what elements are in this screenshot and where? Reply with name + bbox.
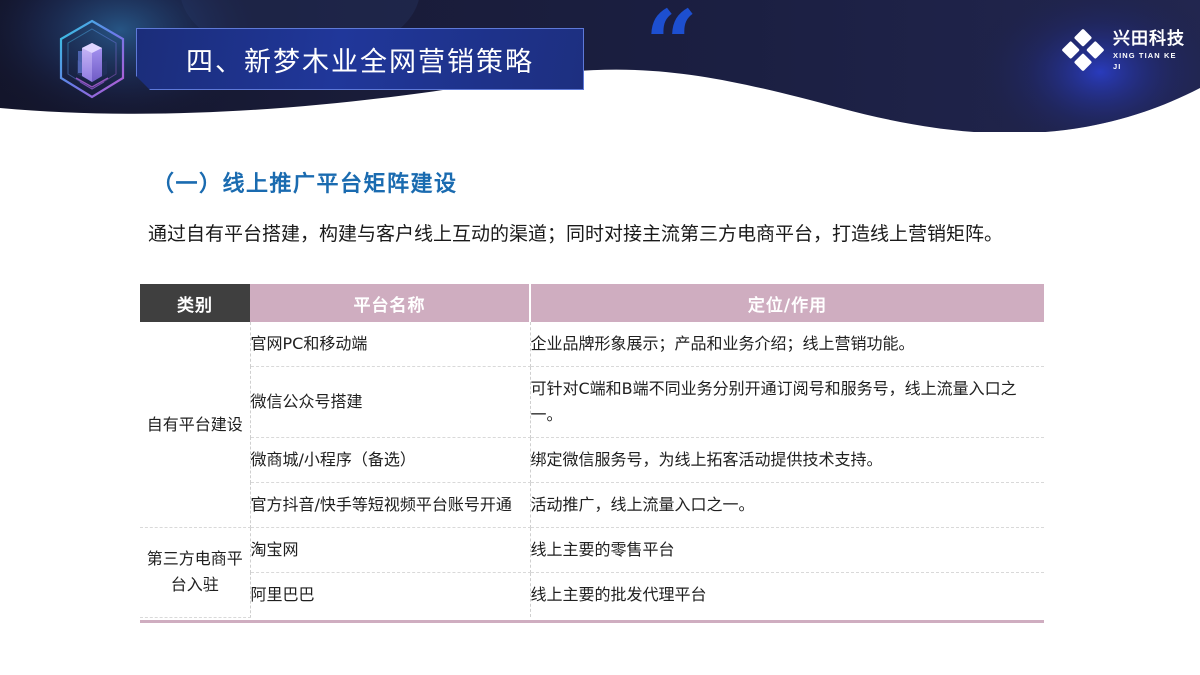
hexagon-cube-icon (52, 16, 132, 102)
quote-decoration-icon: “ (645, 18, 698, 70)
table-bottom-rule (140, 620, 1044, 623)
platform-cell: 淘宝网 (250, 528, 530, 573)
platform-cell: 官网PC和移动端 (250, 322, 530, 367)
platform-cell: 微商城/小程序（备选） (250, 438, 530, 483)
table-row: 微信公众号搭建 可针对C端和B端不同业务分别开通订阅号和服务号，线上流量入口之一… (140, 367, 1044, 438)
brand-logo: 兴田科技 XING TIAN KE JI (1062, 26, 1188, 74)
presentation-slide: 四、新梦木业全网营销策略 “ 兴田科技 XING TIAN KE JI (0, 0, 1200, 675)
page-title: 四、新梦木业全网营销策略 (186, 40, 534, 79)
slide-title-plate: 四、新梦木业全网营销策略 (136, 28, 584, 90)
role-cell: 可针对C端和B端不同业务分别开通订阅号和服务号，线上流量入口之一。 (530, 367, 1044, 438)
platform-matrix-table: 类别 平台名称 定位/作用 自有平台建设 官网PC和移动端 企业品牌形象展示；产… (140, 284, 1044, 618)
role-cell: 绑定微信服务号，为线上拓客活动提供技术支持。 (530, 438, 1044, 483)
role-cell: 线上主要的批发代理平台 (530, 573, 1044, 618)
four-diamond-logo-icon (1062, 29, 1104, 71)
column-header-role: 定位/作用 (530, 284, 1044, 322)
platform-cell: 微信公众号搭建 (250, 367, 530, 438)
column-header-category: 类别 (140, 284, 250, 322)
role-cell: 线上主要的零售平台 (530, 528, 1044, 573)
section-heading: （一）线上推广平台矩阵建设 (152, 166, 458, 198)
table-row: 微商城/小程序（备选） 绑定微信服务号，为线上拓客活动提供技术支持。 (140, 438, 1044, 483)
role-cell: 活动推广，线上流量入口之一。 (530, 483, 1044, 528)
column-header-platform: 平台名称 (250, 284, 530, 322)
lead-paragraph: 通过自有平台搭建，构建与客户线上互动的渠道；同时对接主流第三方电商平台，打造线上… (148, 219, 1068, 249)
brand-name-cn: 兴田科技 (1113, 29, 1188, 49)
table-row: 第三方电商平台入驻 淘宝网 线上主要的零售平台 (140, 528, 1044, 573)
platform-cell: 官方抖音/快手等短视频平台账号开通 (250, 483, 530, 528)
category-cell: 第三方电商平台入驻 (140, 528, 250, 618)
table-header: 类别 平台名称 定位/作用 (140, 284, 1044, 322)
brand-name-en: XING TIAN KE JI (1113, 50, 1188, 72)
table-header-row: 类别 平台名称 定位/作用 (140, 284, 1044, 322)
platform-cell: 阿里巴巴 (250, 573, 530, 618)
table-row: 自有平台建设 官网PC和移动端 企业品牌形象展示；产品和业务介绍；线上营销功能。 (140, 322, 1044, 367)
table-row: 阿里巴巴 线上主要的批发代理平台 (140, 573, 1044, 618)
slide-header-band: 四、新梦木业全网营销策略 “ 兴田科技 XING TIAN KE JI (0, 0, 1200, 132)
role-cell: 企业品牌形象展示；产品和业务介绍；线上营销功能。 (530, 322, 1044, 367)
table-body: 自有平台建设 官网PC和移动端 企业品牌形象展示；产品和业务介绍；线上营销功能。… (140, 322, 1044, 617)
table-row: 官方抖音/快手等短视频平台账号开通 活动推广，线上流量入口之一。 (140, 483, 1044, 528)
category-cell: 自有平台建设 (140, 322, 250, 528)
